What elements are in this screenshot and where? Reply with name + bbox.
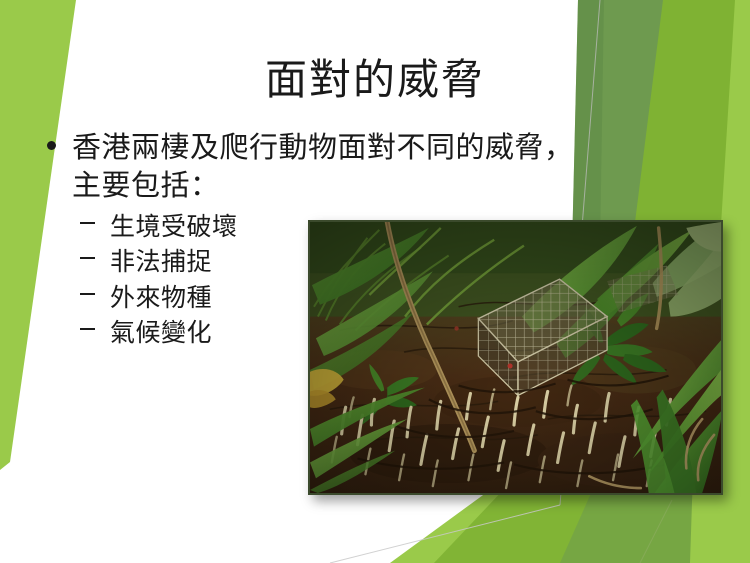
list-item-text: 氣候變化 (110, 318, 212, 347)
hairline-lower-diagonal (330, 505, 560, 563)
bullet-dot-icon (47, 141, 56, 150)
bullet-dash-icon (80, 222, 95, 224)
list-item-text: 外來物種 (110, 283, 212, 312)
list-item-level1: 香港兩棲及爬行動物面對不同的威脅，主要包括： (38, 128, 598, 205)
list-item-text: 生境受破壞 (110, 212, 238, 241)
page-title: 面對的威脅 (265, 56, 485, 104)
title-container: 面對的威脅 (0, 28, 750, 133)
list-item-text: 香港兩棲及爬行動物面對不同的威脅，主要包括： (72, 130, 574, 202)
bullet-dash-icon (80, 293, 95, 295)
photo-artwork (310, 222, 721, 493)
wire-mesh-cage-trap-in-wetland-photo (308, 220, 723, 495)
list-item-text: 非法捕捉 (110, 247, 212, 276)
bullet-dash-icon (80, 257, 95, 259)
bullet-dash-icon (80, 328, 95, 330)
presentation-slide: 面對的威脅 香港兩棲及爬行動物面對不同的威脅，主要包括： 生境受破壞 非法捕捉 … (0, 0, 750, 563)
hairline-bottom-right-wedge (640, 500, 672, 563)
